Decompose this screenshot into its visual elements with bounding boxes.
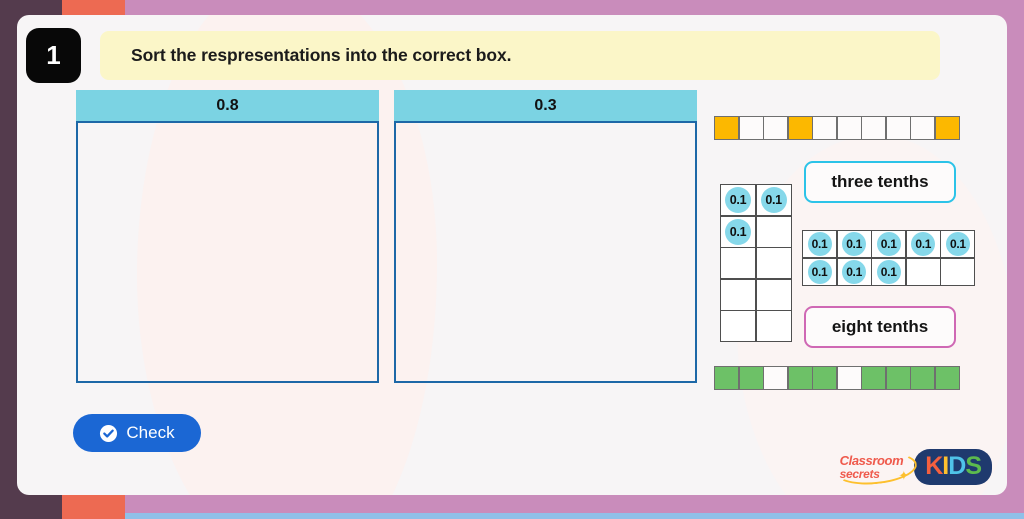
dropzone-0-8[interactable]: 0.8 — [76, 90, 379, 383]
grid-cell — [941, 259, 974, 285]
kids-logo-k: K — [925, 454, 942, 479]
bar-cell — [764, 367, 787, 389]
counter-chip: 0.1 — [808, 260, 832, 284]
frame-cell — [721, 248, 755, 278]
grid-cell: 0.1 — [803, 231, 836, 257]
counter-chip: 0.1 — [946, 232, 970, 256]
bar-cell — [936, 367, 959, 389]
kids-logo-s: S — [965, 454, 981, 479]
grid-cell: 0.1 — [872, 231, 905, 257]
dropzone-area-0-3[interactable] — [394, 121, 697, 383]
counter-grid[interactable]: 0.1 0.1 0.1 0.1 0.1 0.1 0.1 — [802, 230, 975, 286]
bar-cell — [740, 367, 763, 389]
bar-cell — [764, 117, 787, 139]
dropzone-area-0-8[interactable] — [76, 121, 379, 383]
tenths-bar-green[interactable] — [714, 366, 960, 390]
bar-cell — [862, 117, 885, 139]
frame-cell — [757, 217, 791, 247]
check-button[interactable]: Check — [73, 414, 201, 452]
bar-cell — [887, 117, 910, 139]
bar-cell — [936, 117, 959, 139]
counter-chip: 0.1 — [877, 260, 901, 284]
bottom-band-coral — [62, 513, 125, 519]
grid-cell: 0.1 — [872, 259, 905, 285]
dropzone-label-0-3: 0.3 — [394, 90, 697, 121]
counter-chip: 0.1 — [725, 219, 751, 245]
bar-cell — [789, 367, 812, 389]
bar-cell — [789, 117, 812, 139]
grid-cell — [907, 259, 940, 285]
tenths-bar-orange[interactable] — [714, 116, 960, 140]
bar-cell — [838, 367, 861, 389]
question-text: Sort the respresentations into the corre… — [100, 45, 511, 66]
frame-cell — [757, 311, 791, 341]
frame-cell: 0.1 — [721, 217, 755, 247]
counter-chip: 0.1 — [911, 232, 935, 256]
grid-cell: 0.1 — [803, 259, 836, 285]
bar-cell — [911, 367, 934, 389]
kids-logo: K I D S — [914, 449, 992, 485]
ten-frame-counters[interactable]: 0.1 0.1 0.1 — [720, 184, 792, 342]
bar-cell — [715, 367, 738, 389]
bottom-band — [0, 513, 1024, 519]
counter-chip: 0.1 — [808, 232, 832, 256]
frame-cell — [757, 248, 791, 278]
frame-cell: 0.1 — [757, 185, 791, 215]
grid-cell: 0.1 — [838, 259, 871, 285]
bar-cell — [813, 367, 836, 389]
question-number-badge: 1 — [26, 28, 81, 83]
dropzone-0-3[interactable]: 0.3 — [394, 90, 697, 383]
word-card-label: three tenths — [831, 172, 928, 192]
grid-cell: 0.1 — [838, 231, 871, 257]
frame-cell — [721, 311, 755, 341]
bar-cell — [813, 117, 836, 139]
activity-card: 1 Sort the respresentations into the cor… — [17, 15, 1007, 495]
counter-chip: 0.1 — [842, 232, 866, 256]
star-icon: ✦ — [898, 469, 909, 482]
logo-group: Classroom secrets ✦ K I D S — [838, 449, 992, 485]
bar-cell — [838, 117, 861, 139]
frame-cell: 0.1 — [721, 185, 755, 215]
word-card-eight-tenths[interactable]: eight tenths — [804, 306, 956, 348]
bar-cell — [887, 367, 910, 389]
classroom-secrets-logo: Classroom secrets ✦ — [838, 452, 906, 482]
grid-cell: 0.1 — [941, 231, 974, 257]
dropzone-label-0-8: 0.8 — [76, 90, 379, 121]
screen: 1 Sort the respresentations into the cor… — [0, 0, 1024, 519]
classroom-secrets-line1: Classroom — [840, 454, 904, 467]
bar-cell — [911, 117, 934, 139]
frame-cell — [757, 280, 791, 310]
bar-cell — [740, 117, 763, 139]
classroom-secrets-line2: secrets — [840, 468, 880, 480]
kids-logo-d: D — [948, 454, 965, 479]
counter-chip: 0.1 — [725, 187, 751, 213]
bar-cell — [862, 367, 885, 389]
bar-cell — [715, 117, 738, 139]
bottom-band-plum — [0, 513, 62, 519]
word-card-three-tenths[interactable]: three tenths — [804, 161, 956, 203]
check-button-label: Check — [126, 423, 174, 443]
grid-cell: 0.1 — [907, 231, 940, 257]
counter-chip: 0.1 — [877, 232, 901, 256]
counter-chip: 0.1 — [842, 260, 866, 284]
question-number: 1 — [46, 40, 60, 71]
counter-chip: 0.1 — [761, 187, 787, 213]
word-card-label: eight tenths — [832, 317, 928, 337]
check-circle-icon — [99, 424, 118, 443]
question-banner: Sort the respresentations into the corre… — [100, 31, 940, 80]
frame-cell — [721, 280, 755, 310]
